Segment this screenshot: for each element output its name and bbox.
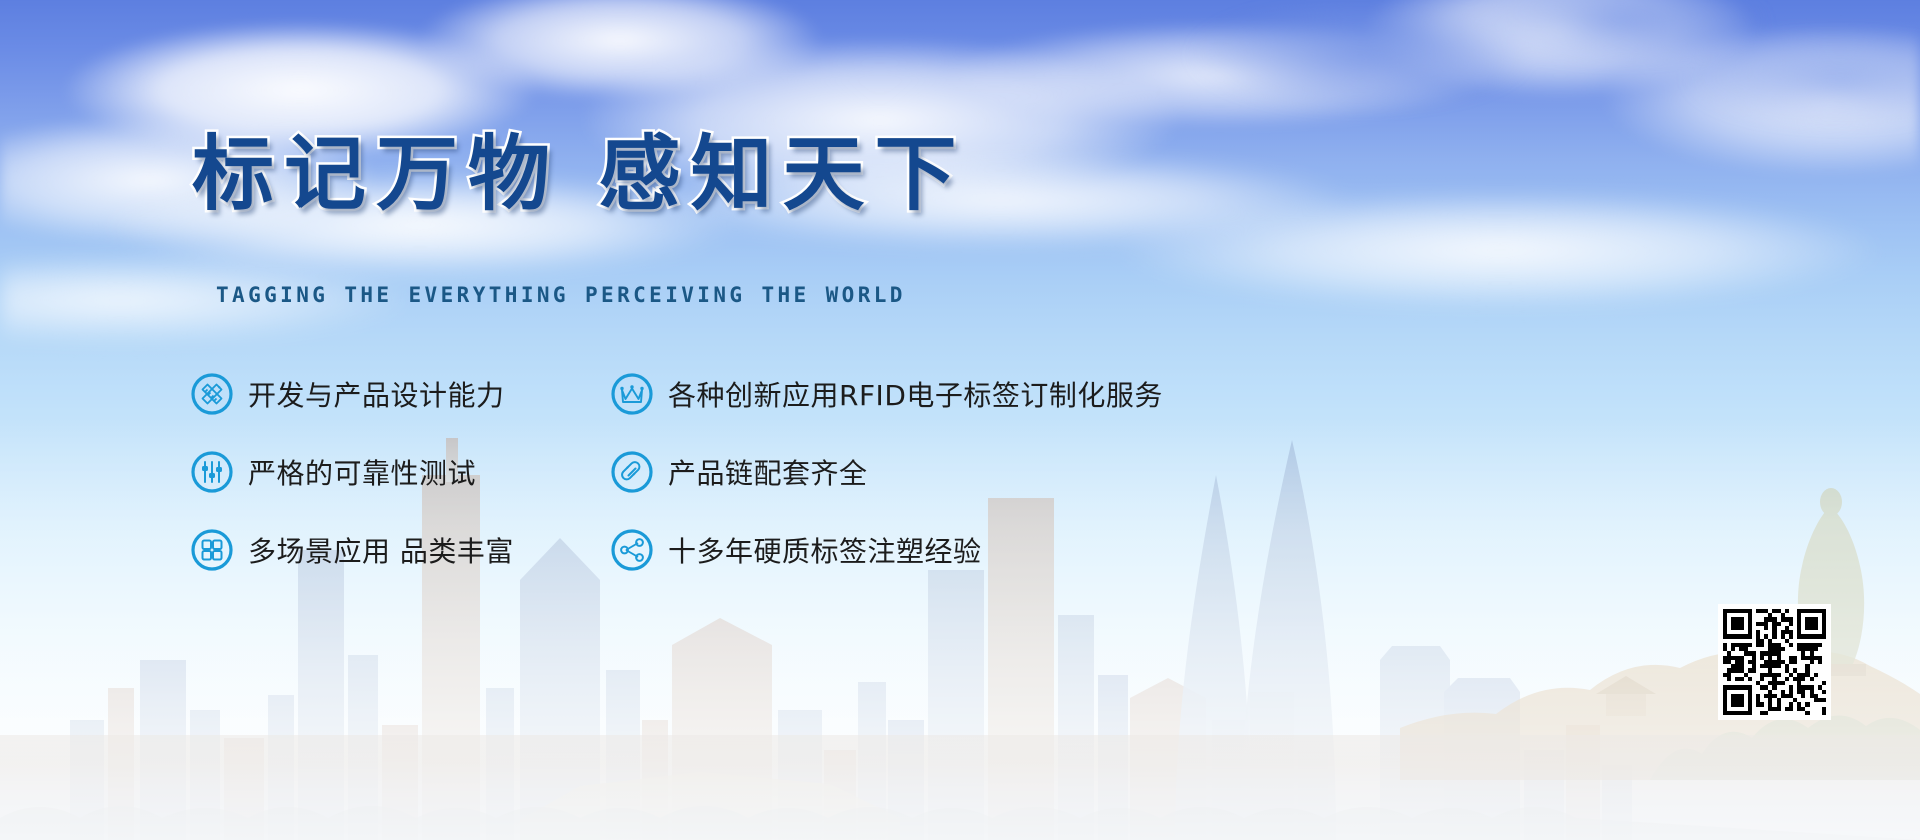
feature-item: 开发与产品设计能力 <box>190 355 514 433</box>
share-nodes-icon <box>610 528 654 572</box>
crown-icon <box>610 372 654 416</box>
feature-item: 各种创新应用RFID电子标签订制化服务 <box>610 355 1163 433</box>
feature-label: 严格的可靠性测试 <box>248 452 476 492</box>
pencil-ruler-icon <box>190 372 234 416</box>
feature-column-left: 开发与产品设计能力 <box>190 355 514 589</box>
banner-image: 标记万物 感知天下 TAGGING THE EVERYTHING PERCEIV… <box>0 0 1920 840</box>
feature-label: 各种创新应用RFID电子标签订制化服务 <box>668 374 1163 414</box>
banner-content: 标记万物 感知天下 TAGGING THE EVERYTHING PERCEIV… <box>0 0 1920 840</box>
feature-label: 开发与产品设计能力 <box>248 374 505 414</box>
feature-item: 严格的可靠性测试 <box>190 433 514 511</box>
feature-label: 多场景应用 品类丰富 <box>248 530 514 570</box>
chain-link-icon <box>610 450 654 494</box>
feature-item: 多场景应用 品类丰富 <box>190 511 514 589</box>
headline-title: 标记万物 感知天下 <box>192 134 967 216</box>
sliders-icon <box>190 450 234 494</box>
qr-code[interactable] <box>1718 604 1831 720</box>
feature-item: 十多年硬质标签注塑经验 <box>610 511 1163 589</box>
feature-item: 产品链配套齐全 <box>610 433 1163 511</box>
qr-code-matrix <box>1723 609 1826 715</box>
feature-label: 产品链配套齐全 <box>668 452 868 492</box>
feature-label: 十多年硬质标签注塑经验 <box>668 530 982 570</box>
grid-squares-icon <box>190 528 234 572</box>
feature-column-right: 各种创新应用RFID电子标签订制化服务 产品链配套齐全 <box>610 355 1163 589</box>
headline-subtitle: TAGGING THE EVERYTHING PERCEIVING THE WO… <box>216 283 906 307</box>
